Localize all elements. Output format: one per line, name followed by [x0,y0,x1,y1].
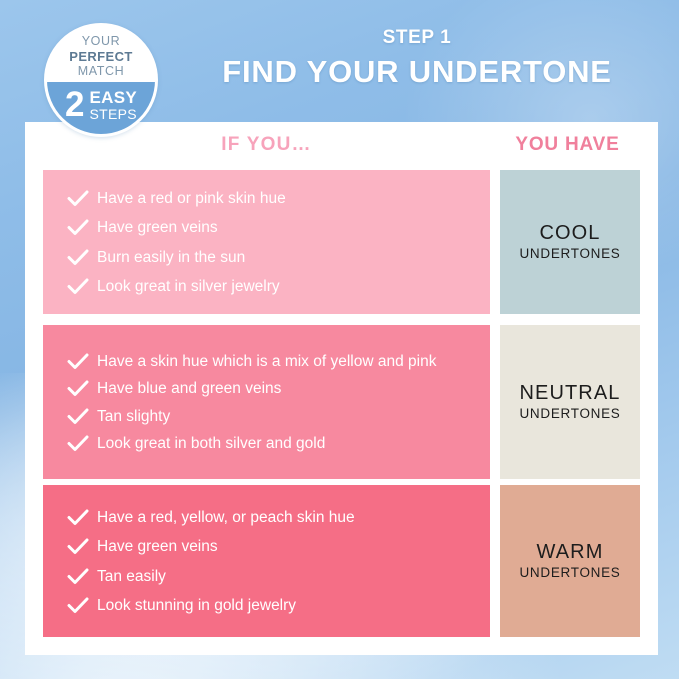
swatch-warm: WARM UNDERTONES [500,485,640,637]
table-row: Have a red, yellow, or peach skin hue Ha… [43,485,640,637]
list-item-label: Have green veins [97,218,476,238]
check-icon [67,568,89,585]
list-item: Have a red, yellow, or peach skin hue [67,504,476,533]
swatch-name: NEUTRAL [519,382,620,404]
badge-word-steps: STEPS [89,107,137,121]
swatch-name: COOL [539,222,600,244]
list-item-label: Have a red or pink skin hue [97,189,476,209]
swatch-subtitle: UNDERTONES [519,565,620,581]
list-item-label: Have a red, yellow, or peach skin hue [97,508,476,528]
table-row: Have a red or pink skin hue Have green v… [43,170,640,314]
column-heading-if-you: IF YOU… [43,134,490,156]
check-icon [67,219,89,236]
list-item-label: Have blue and green veins [97,379,476,399]
swatch-cool: COOL UNDERTONES [500,170,640,314]
badge-line-your: YOUR [82,34,121,49]
list-item-label: Tan easily [97,567,476,587]
check-icon [67,408,89,425]
list-item: Look stunning in gold jewelry [67,591,476,620]
badge-word-easy: EASY [89,89,137,106]
check-icon [67,353,89,370]
page-title: FIND YOUR UNDERTONE [182,56,652,87]
list-item: Have a red or pink skin hue [67,185,476,214]
list-item-label: Burn easily in the sun [97,248,476,268]
swatch-neutral: NEUTRAL UNDERTONES [500,325,640,479]
check-icon [67,190,89,207]
check-icon [67,509,89,526]
list-item-label: Tan slighty [97,407,476,427]
check-icon [67,278,89,295]
check-icon [67,597,89,614]
your-perfect-match-badge: YOUR PERFECT MATCH 2 EASY STEPS [44,23,158,137]
check-icon [67,538,89,555]
list-item: Tan easily [67,562,476,591]
infographic-poster: YOUR PERFECT MATCH 2 EASY STEPS STEP 1 F… [0,0,679,679]
list-item: Have blue and green veins [67,376,476,403]
check-icon [67,249,89,266]
list-item-label: Have green veins [97,537,476,557]
table-row: Have a skin hue which is a mix of yellow… [43,325,640,479]
list-item: Burn easily in the sun [67,243,476,272]
list-item: Have green veins [67,214,476,243]
badge-top-half: YOUR PERFECT MATCH [47,26,155,82]
list-item: Look great in both silver and gold [67,430,476,457]
step-label: STEP 1 [182,28,652,47]
checklist-neutral: Have a skin hue which is a mix of yellow… [43,325,490,479]
list-item-label: Look great in both silver and gold [97,434,476,454]
poster-header: STEP 1 FIND YOUR UNDERTONE [182,28,652,87]
list-item-label: Have a skin hue which is a mix of yellow… [97,352,476,372]
badge-step-number: 2 [65,90,84,120]
badge-bottom-half: 2 EASY STEPS [47,82,155,134]
list-item: Look great in silver jewelry [67,272,476,301]
checklist-cool: Have a red or pink skin hue Have green v… [43,170,490,314]
column-heading-you-have: YOU HAVE [495,134,640,156]
check-icon [67,380,89,397]
content-card: IF YOU… YOU HAVE Have a red or pink skin… [25,122,658,655]
badge-step-words: EASY STEPS [89,89,137,121]
checklist-warm: Have a red, yellow, or peach skin hue Ha… [43,485,490,637]
swatch-subtitle: UNDERTONES [519,246,620,262]
list-item: Have green veins [67,533,476,562]
list-item-label: Look stunning in gold jewelry [97,596,476,616]
list-item-label: Look great in silver jewelry [97,277,476,297]
list-item: Have a skin hue which is a mix of yellow… [67,349,476,376]
swatch-subtitle: UNDERTONES [519,406,620,422]
badge-line-perfect: PERFECT [69,49,132,64]
check-icon [67,435,89,452]
badge-line-match: MATCH [78,64,125,79]
list-item: Tan slighty [67,403,476,430]
swatch-name: WARM [537,541,604,563]
